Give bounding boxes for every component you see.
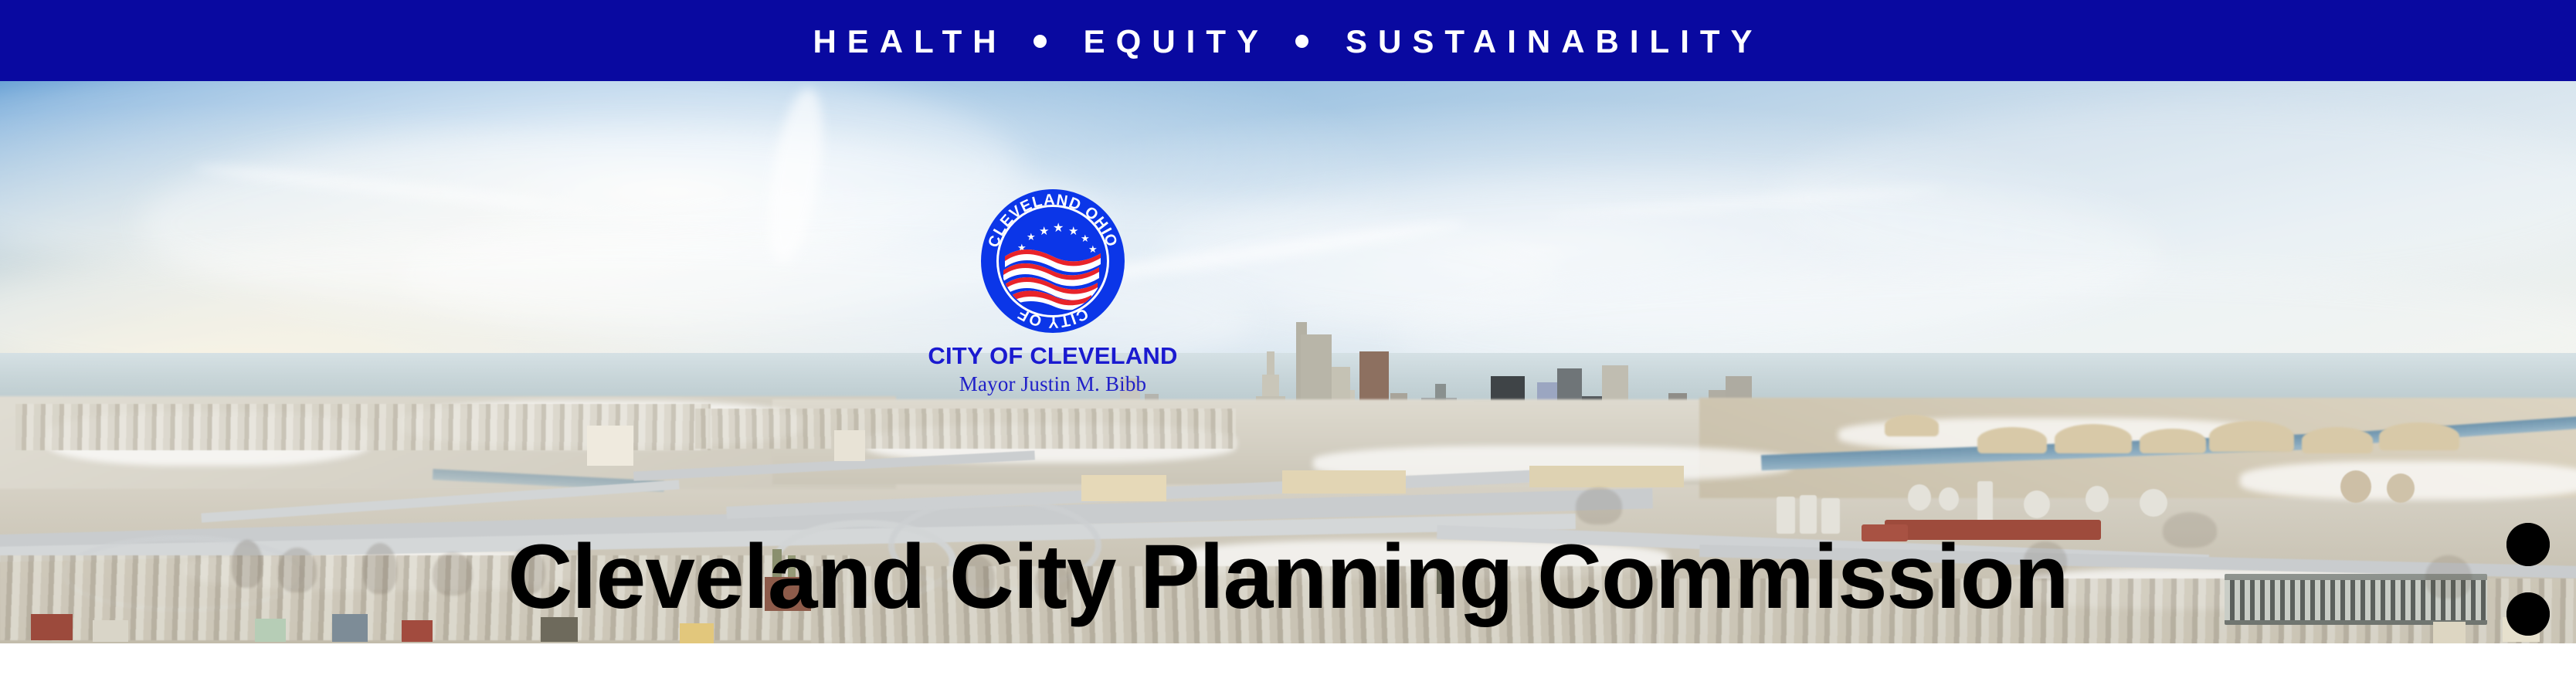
house-shape (2433, 622, 2466, 643)
aggregate-pile (1885, 415, 1939, 436)
page-title: Cleveland City Planning Commission (19, 531, 2557, 623)
storage-tank (2387, 473, 2415, 503)
aggregate-pile (2140, 429, 2206, 453)
building-shape (1282, 470, 1406, 494)
slogan-bar: HEALTH EQUITY SUSTAINABILITY (0, 0, 2576, 81)
header-banner: HEALTH EQUITY SUSTAINABILITY (0, 0, 2576, 682)
social-links (2506, 523, 2550, 643)
bullet-dot-icon (1295, 35, 1308, 48)
house-shape (93, 620, 128, 642)
aggregate-pile (2055, 424, 2132, 453)
storage-tank (2024, 490, 2050, 518)
city-seal-block: CLEVELAND OHIO CITY OF ★ ★ ★ ★ ★ ★ ★ (821, 189, 1285, 396)
slogan-word-sustainability: SUSTAINABILITY (1346, 25, 1763, 58)
tree-shape (1576, 487, 1622, 524)
aggregate-pile (2379, 422, 2459, 450)
slogan-word-health: HEALTH (813, 25, 1006, 58)
youtube-link[interactable] (2506, 523, 2550, 566)
building-shape (587, 426, 633, 466)
footer-spacer (0, 643, 2576, 682)
city-of-cleveland-seal-icon: CLEVELAND OHIO CITY OF ★ ★ ★ ★ ★ ★ ★ (981, 189, 1125, 333)
instagram-link[interactable] (2506, 592, 2550, 636)
aerial-city-photo: CLEVELAND OHIO CITY OF ★ ★ ★ ★ ★ ★ ★ (0, 81, 2576, 643)
slogan-word-equity: EQUITY (1084, 25, 1269, 58)
building-shape (1081, 475, 1166, 501)
aggregate-pile (1977, 427, 2047, 453)
aggregate-pile (2302, 427, 2373, 453)
slogan-text-group: HEALTH EQUITY SUSTAINABILITY (813, 25, 1763, 58)
aggregate-pile (2209, 421, 2294, 452)
neighborhood-block (695, 409, 1236, 449)
bullet-dot-icon (1033, 35, 1047, 48)
storage-tank (2086, 486, 2109, 512)
storage-tank (2140, 489, 2167, 517)
storage-tank (2340, 470, 2371, 503)
seal-emblem: ★ ★ ★ ★ ★ ★ ★ (1000, 209, 1105, 314)
waving-american-flag-icon (1000, 209, 1105, 314)
building-shape (1529, 466, 1684, 487)
storage-tank (1908, 484, 1931, 511)
silo-shape (1977, 481, 1993, 524)
city-name-label: CITY OF CLEVELAND (821, 344, 1285, 369)
house-shape (402, 620, 433, 642)
building-shape (834, 430, 865, 461)
city-wordmark: CITY OF CLEVELAND Mayor Justin M. Bibb (821, 344, 1285, 396)
youtube-icon (2506, 523, 2550, 566)
instagram-icon (2506, 592, 2550, 636)
storage-tank (1939, 487, 1959, 511)
mayor-name-label: Mayor Justin M. Bibb (821, 372, 1285, 396)
